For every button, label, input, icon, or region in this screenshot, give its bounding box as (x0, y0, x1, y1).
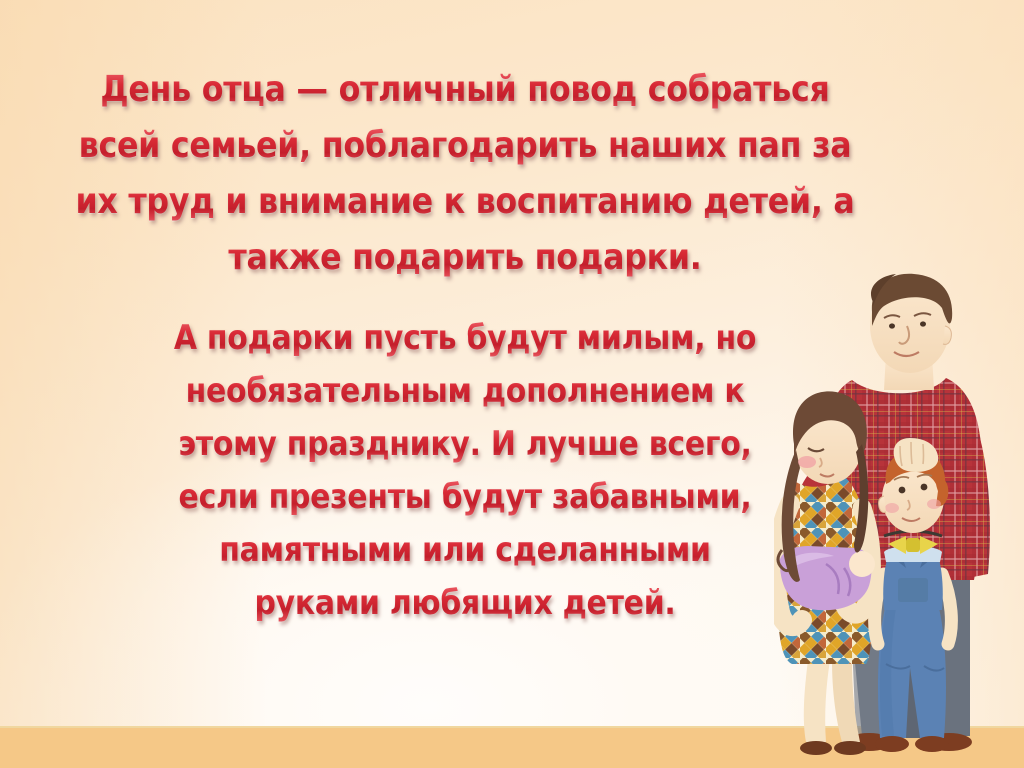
paragraph-1-line-3: их труд и внимание к воспитанию детей, а (56, 174, 874, 230)
paragraph-2-line-3: этому празднику. И лучше всего, (56, 418, 874, 471)
slide-canvas: День отца — отличный повод собраться все… (0, 0, 1024, 768)
mother-shoes (800, 741, 832, 755)
paragraph-1: День отца — отличный повод собраться все… (0, 62, 930, 286)
paragraph-2-line-5: памятными или сделанными (56, 524, 874, 577)
paragraph-2-line-6: руками любящих детей. (56, 577, 874, 630)
paragraph-2-line-1: А подарки пусть будут милым, но (56, 312, 874, 365)
paragraph-2-line-4: если презенты будут забавными, (56, 471, 874, 524)
boy-shoes (875, 736, 909, 752)
paragraph-1-line-1: День отца — отличный повод собраться (56, 62, 874, 118)
paragraph-2-line-2: необязательным дополнением к (56, 365, 874, 418)
paragraph-1-line-4: также подарить подарки. (56, 230, 874, 286)
paragraph-1-line-2: всей семьей, поблагодарить наших пап за (56, 118, 874, 174)
message-text-block: День отца — отличный повод собраться все… (0, 62, 930, 630)
paragraph-2: А подарки пусть будут милым, но необязат… (0, 312, 930, 630)
